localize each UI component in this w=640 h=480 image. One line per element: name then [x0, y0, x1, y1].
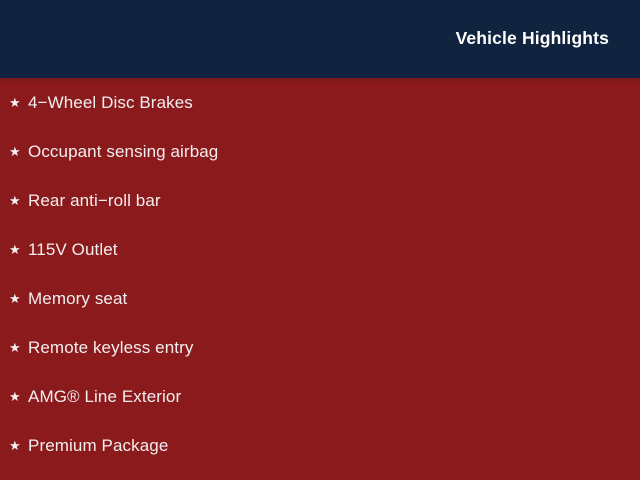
list-item: ★ AMG® Line Exterior: [0, 372, 640, 421]
star-icon: ★: [9, 341, 28, 354]
star-icon: ★: [9, 243, 28, 256]
highlights-panel: ★ 4−Wheel Disc Brakes ★ Occupant sensing…: [0, 78, 640, 480]
list-item: ★ Memory seat: [0, 274, 640, 323]
highlight-label: Memory seat: [28, 290, 127, 307]
list-item: ★ 115V Outlet: [0, 225, 640, 274]
list-item: ★ Occupant sensing airbag: [0, 127, 640, 176]
page-header: Vehicle Highlights: [0, 0, 640, 78]
star-icon: ★: [9, 194, 28, 207]
list-item: ★ 4−Wheel Disc Brakes: [0, 78, 640, 127]
list-item: ★ Rear anti−roll bar: [0, 176, 640, 225]
vehicle-highlights-list: ★ 4−Wheel Disc Brakes ★ Occupant sensing…: [0, 78, 640, 470]
star-icon: ★: [9, 145, 28, 158]
highlight-label: AMG® Line Exterior: [28, 388, 181, 405]
star-icon: ★: [9, 292, 28, 305]
star-icon: ★: [9, 439, 28, 452]
page-title: Vehicle Highlights: [456, 30, 609, 48]
star-icon: ★: [9, 96, 28, 109]
highlight-label: Remote keyless entry: [28, 339, 193, 356]
list-item: ★ Premium Package: [0, 421, 640, 470]
list-item: ★ Remote keyless entry: [0, 323, 640, 372]
highlight-label: Occupant sensing airbag: [28, 143, 218, 160]
highlight-label: 115V Outlet: [28, 241, 118, 258]
star-icon: ★: [9, 390, 28, 403]
highlight-label: Rear anti−roll bar: [28, 192, 161, 209]
highlight-label: Premium Package: [28, 437, 168, 454]
vehicle-highlights-screen: Vehicle Highlights ★ 4−Wheel Disc Brakes…: [0, 0, 640, 480]
highlight-label: 4−Wheel Disc Brakes: [28, 94, 193, 111]
